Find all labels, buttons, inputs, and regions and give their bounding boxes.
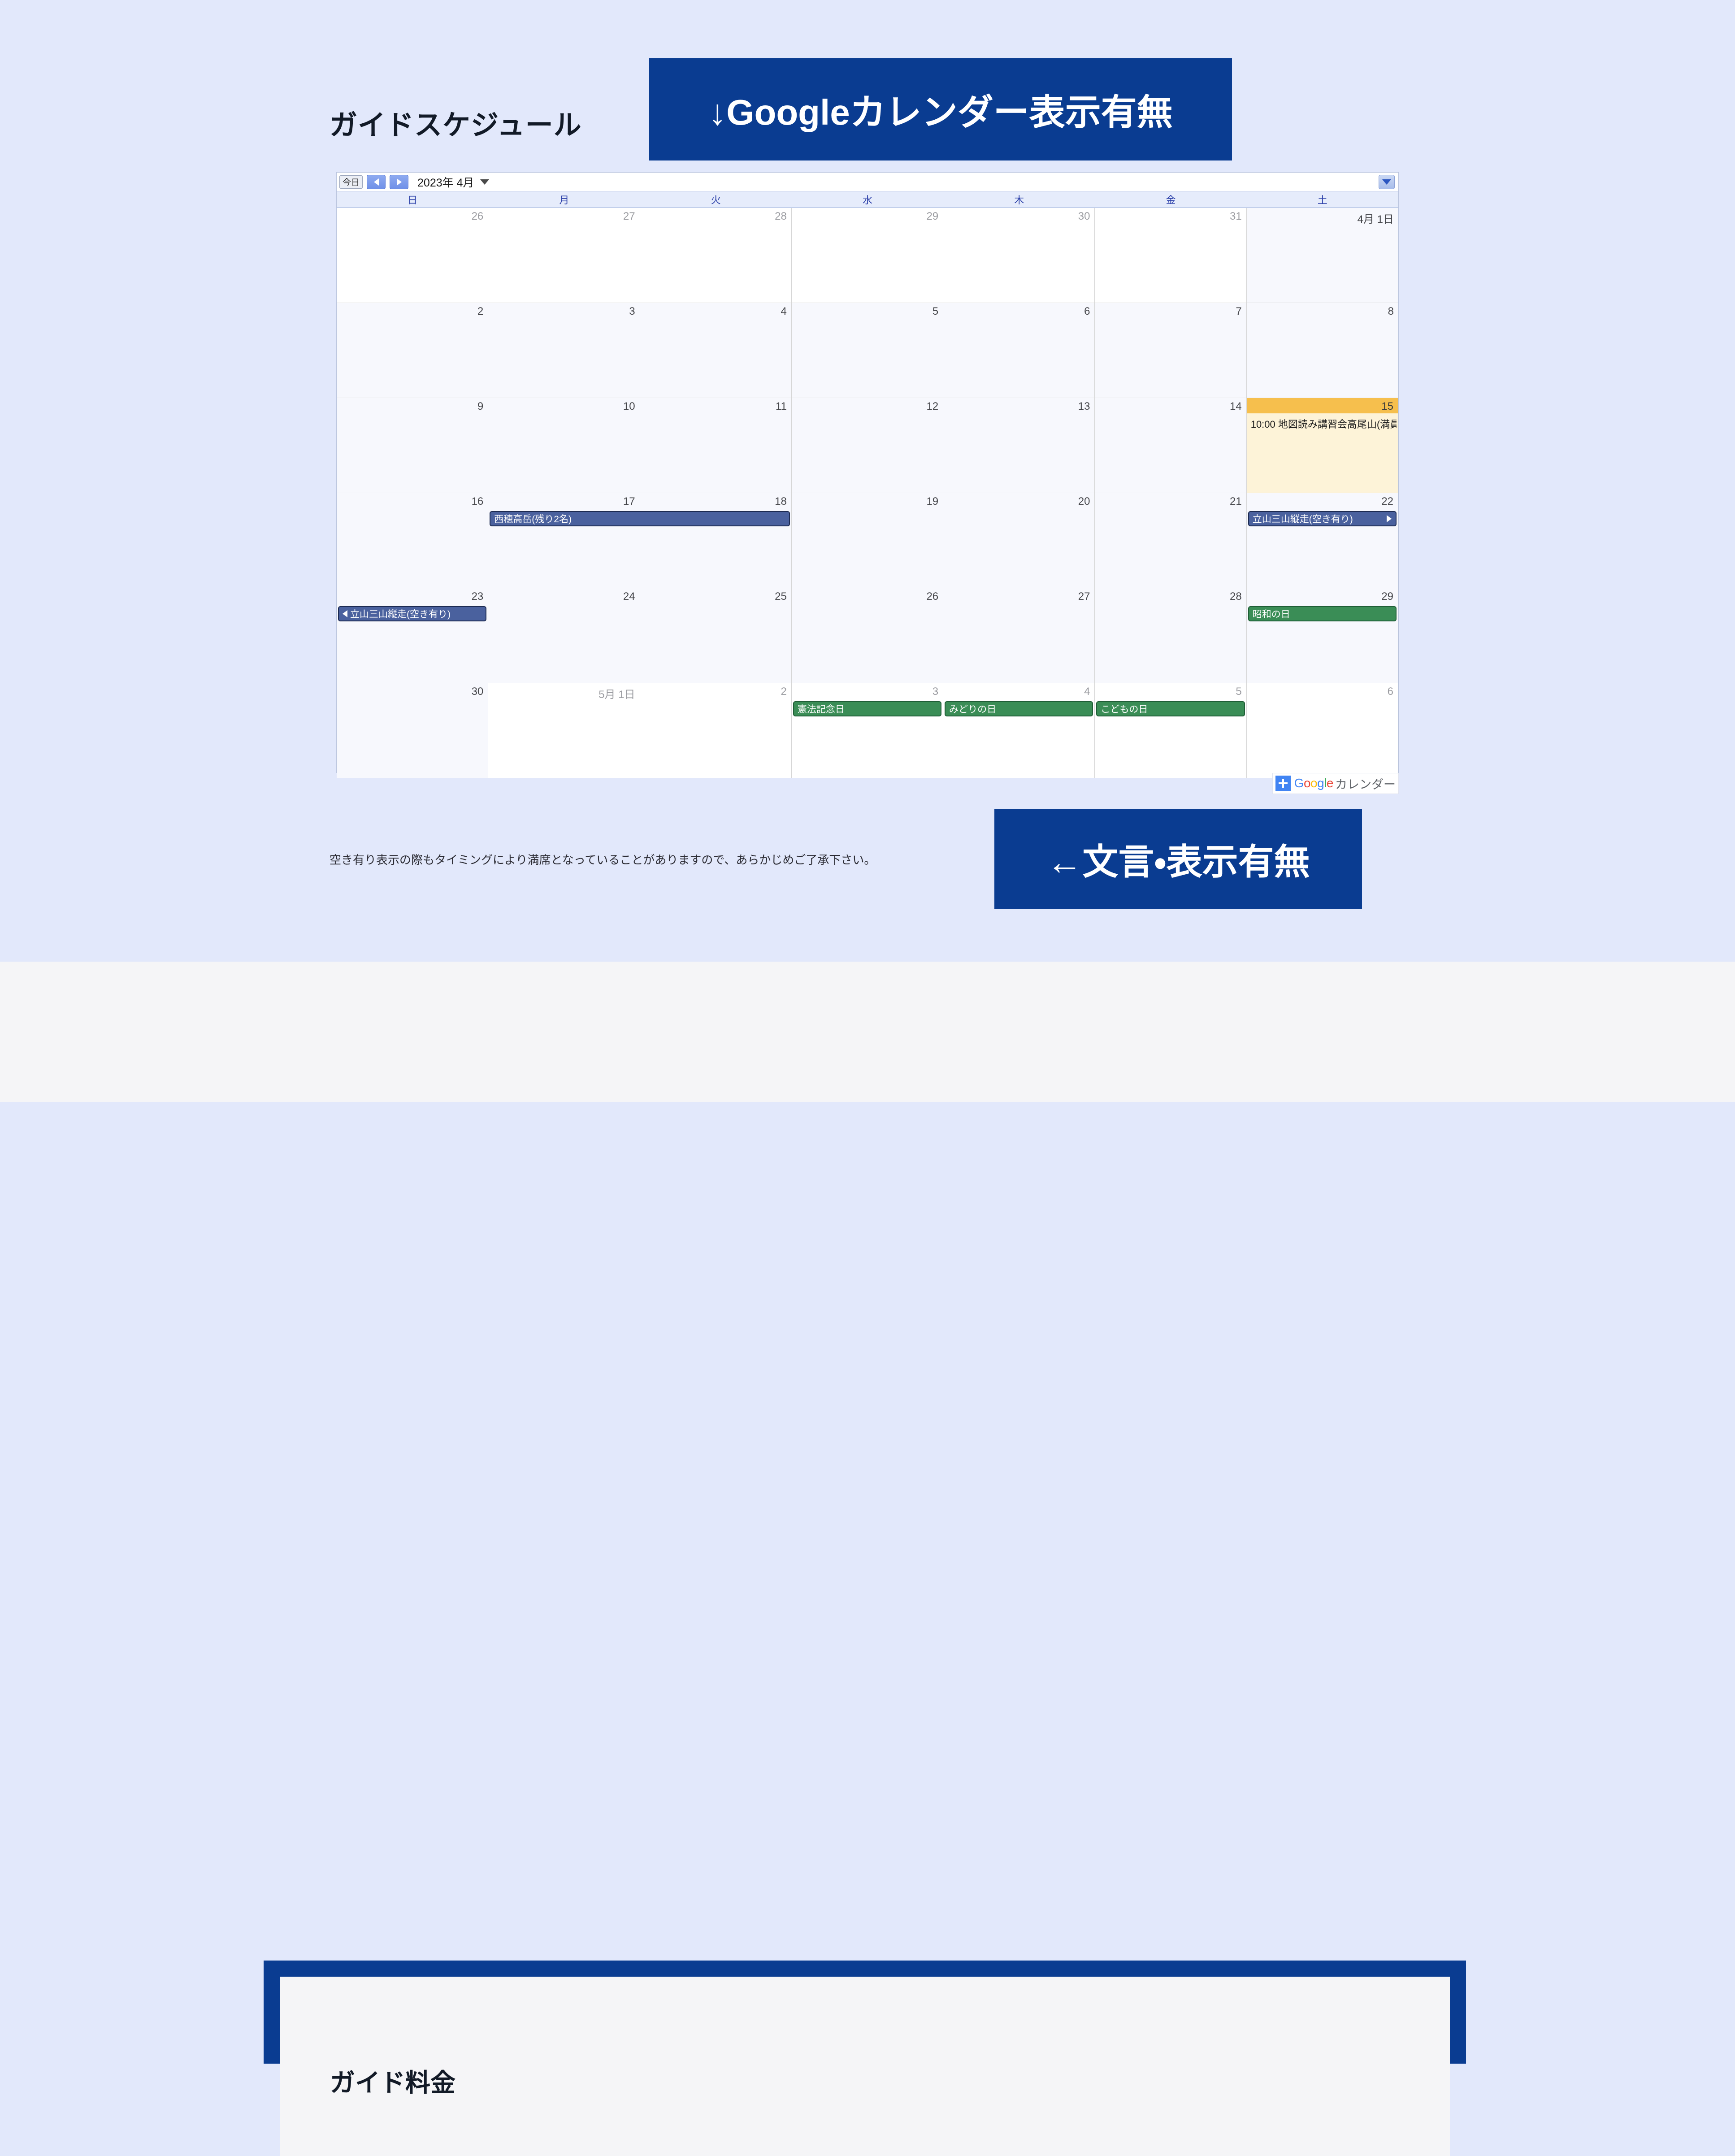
calendar-day-cell[interactable]: 16 <box>337 493 488 588</box>
calendar-day-cell[interactable]: 26 <box>792 588 943 683</box>
dropdown-arrow-icon <box>1382 179 1391 185</box>
annotation-banner-bottom-text: ←文言・表示有無 <box>1046 833 1310 885</box>
lower-blue-frame: ガイド料金 <box>264 1961 1466 2064</box>
google-calendar-embed[interactable]: 今日 2023年 4月 日 月 火 水 木 金 土 2627282930314月… <box>336 172 1399 773</box>
day-number: 12 <box>926 400 938 413</box>
calendar-day-cell[interactable]: 12 <box>792 398 943 493</box>
calendar-day-cell[interactable]: 7 <box>1095 303 1246 398</box>
calendar-event[interactable]: 10:00 地図読み講習会高尾山(満員 <box>1248 416 1397 431</box>
weekday-thu: 木 <box>943 191 1095 207</box>
day-number: 4月 1日 <box>1358 210 1394 226</box>
day-number: 17 <box>623 495 635 508</box>
day-number: 30 <box>472 685 484 698</box>
calendar-day-cell[interactable]: 4月 1日 <box>1247 208 1398 303</box>
calendar-week-row: 2627282930314月 1日 <box>337 208 1398 303</box>
prev-month-button[interactable] <box>367 175 386 189</box>
calendar-event[interactable]: 西穂高岳(残り2名) <box>490 511 790 526</box>
google-logo: Google <box>1294 776 1333 790</box>
calendar-day-cell[interactable]: 5月 1日 <box>488 683 640 778</box>
day-number: 24 <box>623 590 635 603</box>
calendar-day-cell[interactable]: 31 <box>1095 208 1246 303</box>
calendar-day-cell[interactable]: 11 <box>640 398 792 493</box>
calendar-toolbar: 今日 2023年 4月 <box>337 173 1398 191</box>
day-number: 4 <box>1084 685 1090 698</box>
calendar-day-cell[interactable]: 30 <box>943 208 1095 303</box>
calendar-event-title: 西穂高岳(残り2名) <box>494 512 572 525</box>
day-number: 6 <box>1084 305 1090 318</box>
calendar-day-cell[interactable]: 2 <box>640 683 792 778</box>
calendar-day-cell[interactable]: 26 <box>337 208 488 303</box>
day-number: 2 <box>477 305 483 318</box>
chevron-left-icon <box>343 610 347 617</box>
day-number: 30 <box>1078 210 1090 223</box>
chevron-right-icon <box>1387 515 1392 522</box>
day-number: 20 <box>1078 495 1090 508</box>
chevron-left-icon <box>374 178 379 186</box>
weekday-sat: 土 <box>1247 191 1398 207</box>
day-number: 23 <box>472 590 484 603</box>
weekday-mon: 月 <box>488 191 640 207</box>
day-number: 7 <box>1236 305 1241 318</box>
day-number: 22 <box>1381 495 1393 508</box>
calendar-day-cell[interactable]: 28 <box>1095 588 1246 683</box>
day-number: 3 <box>629 305 635 318</box>
day-number: 6 <box>1388 685 1393 698</box>
calendar-weeks: 2627282930314月 1日2345678910111213141510:… <box>337 208 1398 778</box>
calendar-day-cell[interactable]: 4 <box>943 683 1095 778</box>
google-calendar-word: カレンダー <box>1335 775 1396 792</box>
annotation-banner-bottom: ←文言・表示有無 <box>994 809 1362 909</box>
day-number: 26 <box>472 210 484 223</box>
calendar-event-title: こどもの日 <box>1101 702 1148 716</box>
calendar-day-cell[interactable]: 28 <box>640 208 792 303</box>
google-calendar-footer[interactable]: Google カレンダー <box>336 773 1399 794</box>
calendar-day-cell[interactable]: 2 <box>337 303 488 398</box>
calendar-event-title: 10:00 地図読み講習会高尾山(満員 <box>1251 416 1397 431</box>
calendar-day-cell[interactable]: 5 <box>1095 683 1246 778</box>
day-number: 9 <box>477 400 483 413</box>
day-number: 5月 1日 <box>599 685 635 701</box>
day-number: 8 <box>1388 305 1394 318</box>
calendar-event[interactable]: 昭和の日 <box>1248 606 1397 621</box>
day-number: 19 <box>926 495 938 508</box>
availability-note: 空き有り表示の際もタイミングにより満席となっていることがありますので、あらかじめ… <box>330 851 876 868</box>
lower-section-heading: ガイド料金 <box>330 2063 455 2099</box>
calendar-event[interactable]: みどりの日 <box>945 701 1093 716</box>
plus-icon <box>1275 776 1291 791</box>
day-number: 16 <box>472 495 484 508</box>
calendar-day-cell[interactable]: 19 <box>792 493 943 588</box>
calendar-day-cell[interactable]: 30 <box>337 683 488 778</box>
calendar-event[interactable]: こどもの日 <box>1096 701 1245 716</box>
calendar-week-row: 23242526272829立山三山縦走(空き有り)昭和の日 <box>337 588 1398 683</box>
calendar-day-cell[interactable]: 6 <box>943 303 1095 398</box>
day-number: 27 <box>1078 590 1090 603</box>
chevron-right-icon <box>397 178 402 186</box>
calendar-day-cell[interactable]: 17 <box>488 493 640 588</box>
day-number: 29 <box>926 210 938 223</box>
calendar-day-cell[interactable]: 10 <box>488 398 640 493</box>
day-number: 3 <box>933 685 938 698</box>
calendar-day-cell[interactable]: 23 <box>337 588 488 683</box>
calendar-week-row: 2345678 <box>337 303 1398 398</box>
calendar-event[interactable]: 憲法記念日 <box>793 701 941 716</box>
day-number: 15 <box>1381 400 1393 413</box>
calendar-event-title: 憲法記念日 <box>798 702 845 716</box>
next-month-button[interactable] <box>390 175 408 189</box>
calendar-day-cell[interactable]: 27 <box>943 588 1095 683</box>
calendar-week-row: 910111213141510:00 地図読み講習会高尾山(満員 <box>337 398 1398 493</box>
annotation-banner-top-text: ↓Googleカレンダー表示有無 <box>708 83 1173 135</box>
calendar-day-cell[interactable]: 3 <box>488 303 640 398</box>
day-number: 2 <box>781 685 786 698</box>
calendar-day-cell[interactable]: 29 <box>1247 588 1398 683</box>
day-number: 28 <box>1230 590 1242 603</box>
calendar-day-cell[interactable]: 9 <box>337 398 488 493</box>
calendar-event-title: みどりの日 <box>949 702 996 716</box>
day-number: 29 <box>1381 590 1393 603</box>
day-number: 28 <box>775 210 787 223</box>
calendar-day-cell[interactable]: 15 <box>1247 398 1398 493</box>
calendar-day-cell[interactable]: 13 <box>943 398 1095 493</box>
lower-content-panel: ガイド料金 <box>280 1977 1450 2156</box>
day-number: 31 <box>1230 210 1242 223</box>
calendar-period-label: 2023年 4月 <box>417 174 474 190</box>
weekday-tue: 火 <box>640 191 792 207</box>
calendar-event[interactable]: 立山三山縦走(空き有り) <box>1248 511 1397 526</box>
calendar-day-cell[interactable]: 4 <box>640 303 792 398</box>
calendar-event-title: 昭和の日 <box>1253 607 1290 620</box>
calendar-day-cell[interactable]: 6 <box>1247 683 1398 778</box>
calendar-day-cell[interactable]: 20 <box>943 493 1095 588</box>
calendar-options-button[interactable] <box>1379 175 1395 189</box>
calendar-day-cell[interactable]: 3 <box>792 683 943 778</box>
calendar-day-cell[interactable]: 18 <box>640 493 792 588</box>
calendar-week-row: 16171819202122西穂高岳(残り2名)立山三山縦走(空き有り) <box>337 493 1398 588</box>
calendar-day-cell[interactable]: 8 <box>1247 303 1398 398</box>
day-number: 27 <box>623 210 635 223</box>
calendar-day-cell[interactable]: 27 <box>488 208 640 303</box>
day-number: 14 <box>1230 400 1242 413</box>
chevron-down-icon[interactable] <box>480 179 489 185</box>
google-calendar-badge[interactable]: Google カレンダー <box>1272 773 1399 794</box>
page-bottom-section: ガイド料金 <box>0 962 1735 1102</box>
day-number: 21 <box>1230 495 1242 508</box>
calendar-day-cell[interactable]: 22 <box>1247 493 1398 588</box>
calendar-day-cell[interactable]: 21 <box>1095 493 1246 588</box>
day-number: 25 <box>775 590 787 603</box>
page-title: ガイドスケジュール <box>330 102 582 143</box>
page-top-section: ガイドスケジュール ↓Googleカレンダー表示有無 今日 2023年 4月 日… <box>0 0 1735 962</box>
calendar-event[interactable]: 立山三山縦走(空き有り) <box>338 606 486 621</box>
today-highlight-strip <box>1247 398 1398 413</box>
calendar-day-cell[interactable]: 24 <box>488 588 640 683</box>
calendar-event-title: 立山三山縦走(空き有り) <box>350 607 451 620</box>
calendar-event-title: 立山三山縦走(空き有り) <box>1253 512 1353 525</box>
calendar-day-cell[interactable]: 25 <box>640 588 792 683</box>
weekday-header-row: 日 月 火 水 木 金 土 <box>337 191 1398 208</box>
day-number: 4 <box>781 305 786 318</box>
today-button[interactable]: 今日 <box>339 175 363 189</box>
weekday-wed: 水 <box>792 191 943 207</box>
day-number: 5 <box>1236 685 1241 698</box>
weekday-fri: 金 <box>1095 191 1246 207</box>
weekday-sun: 日 <box>337 191 488 207</box>
calendar-day-cell[interactable]: 5 <box>792 303 943 398</box>
day-number: 18 <box>775 495 787 508</box>
annotation-banner-top: ↓Googleカレンダー表示有無 <box>649 58 1232 161</box>
calendar-week-row: 305月 1日23456憲法記念日みどりの日こどもの日 <box>337 683 1398 778</box>
day-number: 11 <box>776 400 787 413</box>
day-number: 26 <box>926 590 938 603</box>
calendar-day-cell[interactable]: 14 <box>1095 398 1246 493</box>
calendar-day-cell[interactable]: 29 <box>792 208 943 303</box>
day-number: 10 <box>623 400 635 413</box>
day-number: 13 <box>1078 400 1090 413</box>
day-number: 5 <box>933 305 938 318</box>
